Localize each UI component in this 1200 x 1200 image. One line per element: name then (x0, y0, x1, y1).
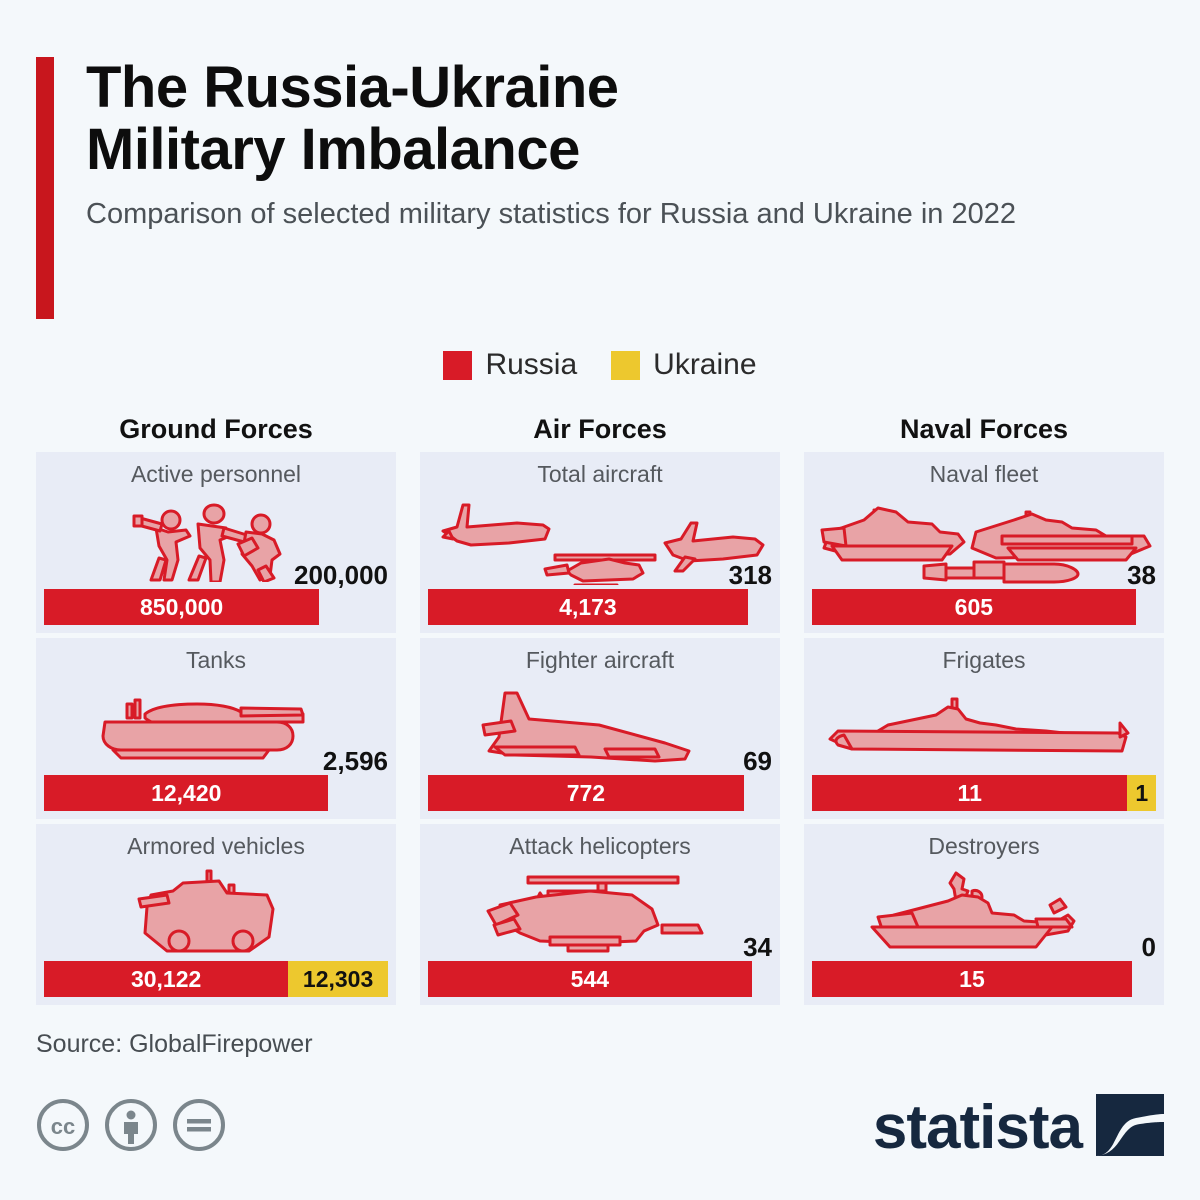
metric-panel-active-personnel: Active personnel (36, 452, 396, 633)
ukraine-value-label: 2,596 (323, 748, 388, 774)
legend: Russia Ukraine (0, 348, 1200, 382)
column-ground-forces: Ground Forces Active personnel (36, 413, 396, 1010)
legend-swatch-ukraine (611, 351, 640, 380)
metric-label: Tanks (44, 646, 388, 676)
metric-label: Naval fleet (812, 460, 1156, 490)
frigate-icon (812, 680, 1156, 772)
page-subtitle: Comparison of selected military statisti… (36, 181, 1086, 233)
armored-vehicle-icon (44, 866, 388, 958)
legend-item-russia: Russia (443, 348, 577, 382)
stacked-bar: 11 1 (812, 775, 1156, 811)
statista-logo: statista (873, 1094, 1164, 1161)
stacked-bar: 850,000 (44, 589, 388, 625)
bar-segment-ukraine (319, 589, 388, 625)
cc-icon: cc (36, 1098, 90, 1152)
legend-item-ukraine: Ukraine (611, 348, 756, 382)
bar-segment-ukraine (752, 961, 772, 997)
fighter-jet-icon (428, 680, 772, 772)
metric-label: Total aircraft (428, 460, 772, 490)
bar-segment-russia: 544 (428, 961, 752, 997)
stacked-bar: 15 (812, 961, 1156, 997)
bar-segment-russia: 605 (812, 589, 1136, 625)
title-line-1: The Russia-Ukraine (86, 57, 1136, 119)
ukraine-value-label: 318 (729, 562, 772, 588)
metric-label: Frigates (812, 646, 1156, 676)
attack-helicopter-icon (428, 866, 772, 958)
header: The Russia-Ukraine Military Imbalance Co… (36, 57, 1136, 233)
column-naval-forces: Naval Forces Naval fleet (804, 413, 1164, 1010)
metric-label: Attack helicopters (428, 832, 772, 862)
metric-panel-tanks: Tanks 2,596 12,42 (36, 638, 396, 819)
statista-wordmark: statista (873, 1097, 1082, 1159)
bar-segment-russia: 4,173 (428, 589, 748, 625)
metric-panel-total-aircraft: Total aircraft (420, 452, 780, 633)
bar-segment-ukraine (328, 775, 388, 811)
stacked-bar: 772 (428, 775, 772, 811)
ukraine-value-label: 69 (743, 748, 772, 774)
bar-segment-ukraine (1136, 589, 1156, 625)
legend-label-russia: Russia (485, 348, 577, 382)
metric-panel-armored-vehicles: Armored vehicles 30,122 (36, 824, 396, 1005)
page-title: The Russia-Ukraine Military Imbalance (36, 57, 1136, 181)
column-air-forces: Air Forces Total aircraft (420, 413, 780, 1010)
legend-label-ukraine: Ukraine (653, 348, 756, 382)
column-title-ground: Ground Forces (36, 413, 396, 452)
bar-segment-russia: 15 (812, 961, 1132, 997)
source-text: Source: GlobalFirepower (36, 1030, 313, 1059)
ukraine-value-label: 200,000 (294, 562, 388, 588)
svg-text:cc: cc (51, 1114, 75, 1139)
metric-label: Destroyers (812, 832, 1156, 862)
cc-by-icon (104, 1098, 158, 1152)
ukraine-value-label: 34 (743, 934, 772, 960)
ukraine-value-label: 0 (1142, 934, 1156, 960)
naval-fleet-icon (812, 494, 1156, 586)
metric-label: Fighter aircraft (428, 646, 772, 676)
bar-segment-ukraine: 1 (1127, 775, 1156, 811)
bar-segment-ukraine (744, 775, 772, 811)
title-line-2: Military Imbalance (86, 119, 1136, 181)
column-title-naval: Naval Forces (804, 413, 1164, 452)
aircraft-group-icon (428, 494, 772, 586)
legend-swatch-russia (443, 351, 472, 380)
chart-columns: Ground Forces Active personnel (0, 413, 1200, 1010)
metric-panel-fighter-aircraft: Fighter aircraft 69 772 (420, 638, 780, 819)
bar-segment-russia: 772 (428, 775, 744, 811)
stacked-bar: 12,420 (44, 775, 388, 811)
statista-mark-icon (1096, 1094, 1164, 1161)
accent-bar (36, 57, 54, 319)
stacked-bar: 544 (428, 961, 772, 997)
stacked-bar: 30,122 12,303 (44, 961, 388, 997)
bar-segment-russia: 12,420 (44, 775, 328, 811)
bar-segment-ukraine: 12,303 (288, 961, 388, 997)
metric-label: Armored vehicles (44, 832, 388, 862)
bar-segment-russia: 30,122 (44, 961, 288, 997)
metric-panel-naval-fleet: Naval fleet (804, 452, 1164, 633)
metric-panel-attack-helicopters: Attack helicopters (420, 824, 780, 1005)
stacked-bar: 4,173 (428, 589, 772, 625)
bar-segment-russia: 11 (812, 775, 1127, 811)
infographic-root: The Russia-Ukraine Military Imbalance Co… (0, 0, 1200, 1200)
stacked-bar: 605 (812, 589, 1156, 625)
cc-nd-icon (172, 1098, 226, 1152)
metric-panel-frigates: Frigates 11 1 (804, 638, 1164, 819)
metric-panel-destroyers: Destroyers 0 (804, 824, 1164, 1005)
column-title-air: Air Forces (420, 413, 780, 452)
bar-segment-russia: 850,000 (44, 589, 319, 625)
destroyer-icon (812, 866, 1156, 958)
bar-segment-ukraine (748, 589, 772, 625)
ukraine-value-label: 38 (1127, 562, 1156, 588)
metric-label: Active personnel (44, 460, 388, 490)
creative-commons-icons: cc (36, 1098, 226, 1152)
bar-segment-ukraine (1132, 961, 1156, 997)
